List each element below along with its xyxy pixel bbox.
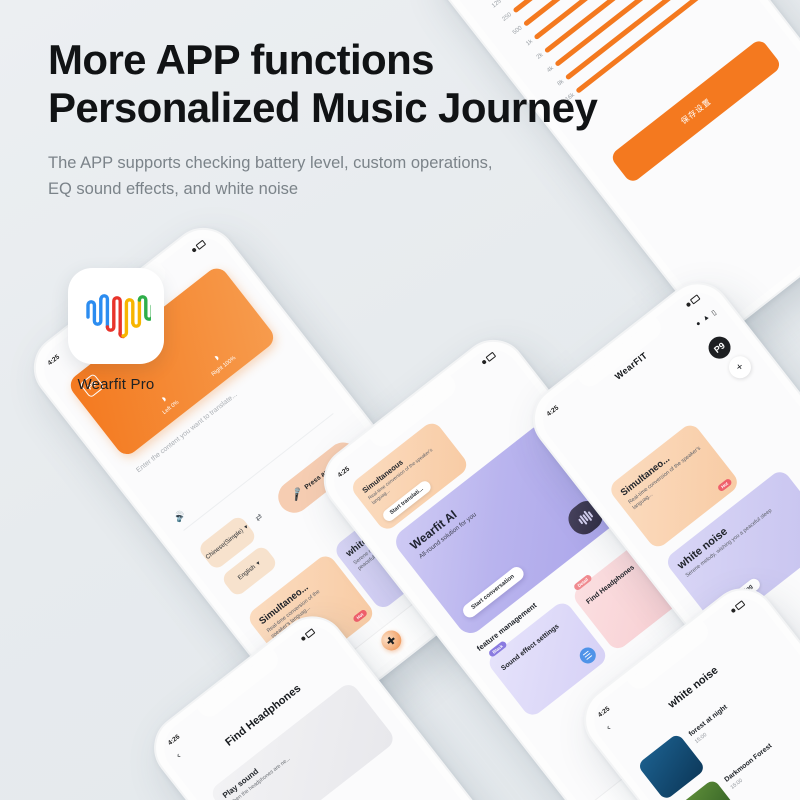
chevron-down-icon: ▾ bbox=[243, 524, 250, 532]
headline-block: More APP functions Personalized Music Jo… bbox=[48, 36, 597, 203]
battery-icon bbox=[195, 240, 206, 250]
right-bud-battery: ◗ Right 100% bbox=[203, 345, 237, 378]
signal-icon bbox=[191, 247, 197, 253]
status-bar: 4:25 bbox=[534, 284, 713, 428]
app-icon-block: Wearfit Pro bbox=[52, 268, 180, 393]
headline-subtitle: The APP supports checking battery level,… bbox=[48, 150, 597, 203]
add-device-button[interactable]: + bbox=[725, 352, 756, 383]
badge: Detail bbox=[573, 574, 593, 592]
start-conversation-button[interactable]: Start conversation bbox=[460, 564, 526, 620]
equalizer-icon: ☰ bbox=[577, 644, 599, 666]
status-icons bbox=[730, 600, 746, 614]
status-time: 4:25 bbox=[336, 465, 351, 479]
battery-icon bbox=[735, 600, 746, 610]
app-icon-label: Wearfit Pro bbox=[52, 376, 180, 393]
battery-icon bbox=[690, 294, 701, 304]
card-sub: When the headphones are ne... bbox=[228, 703, 360, 800]
subtitle-line-2: EQ sound effects, and white noise bbox=[48, 180, 298, 198]
status-icons bbox=[481, 352, 497, 366]
hot-badge: Hot bbox=[716, 478, 732, 493]
waveform-icon bbox=[576, 509, 594, 527]
subtitle-line-1: The APP supports checking battery level,… bbox=[48, 154, 493, 172]
poster-stage: 4:25 dB 31621252505001k2k4k8k16k 保存设置 4:… bbox=[0, 0, 800, 800]
status-icons bbox=[300, 628, 316, 642]
back-icon[interactable]: ‹ bbox=[174, 750, 183, 760]
status-time: 4:26 bbox=[166, 733, 181, 747]
heart-waveform-icon bbox=[81, 287, 151, 345]
nav-add-button[interactable]: ✚ bbox=[377, 627, 405, 655]
chevron-down-icon: ▾ bbox=[255, 560, 262, 568]
mic-icon: 🎤 bbox=[289, 486, 306, 502]
signal-icon bbox=[731, 608, 737, 614]
back-icon[interactable]: ‹ bbox=[604, 722, 613, 732]
headline-line-2: Personalized Music Journey bbox=[48, 84, 597, 131]
battery-icon bbox=[485, 352, 496, 362]
device-icon-button[interactable]: P9 bbox=[704, 332, 735, 363]
card-title: Play sound bbox=[221, 693, 354, 800]
signal-icon bbox=[686, 302, 692, 308]
wearfit-app-icon[interactable] bbox=[68, 268, 164, 364]
hot-badge: Hot bbox=[352, 609, 368, 624]
app-title: WearFIT bbox=[543, 296, 719, 437]
headline-line-1: More APP functions bbox=[48, 36, 434, 83]
signal-icon bbox=[481, 359, 487, 365]
page-title: More APP functions Personalized Music Jo… bbox=[48, 36, 597, 132]
status-time: 4:25 bbox=[596, 705, 611, 719]
left-bud-battery: ◗ Left 0% bbox=[154, 389, 181, 416]
swap-language-icon[interactable]: ⇄ bbox=[253, 512, 264, 523]
signal-icon bbox=[301, 636, 307, 642]
battery-icon bbox=[305, 628, 316, 638]
